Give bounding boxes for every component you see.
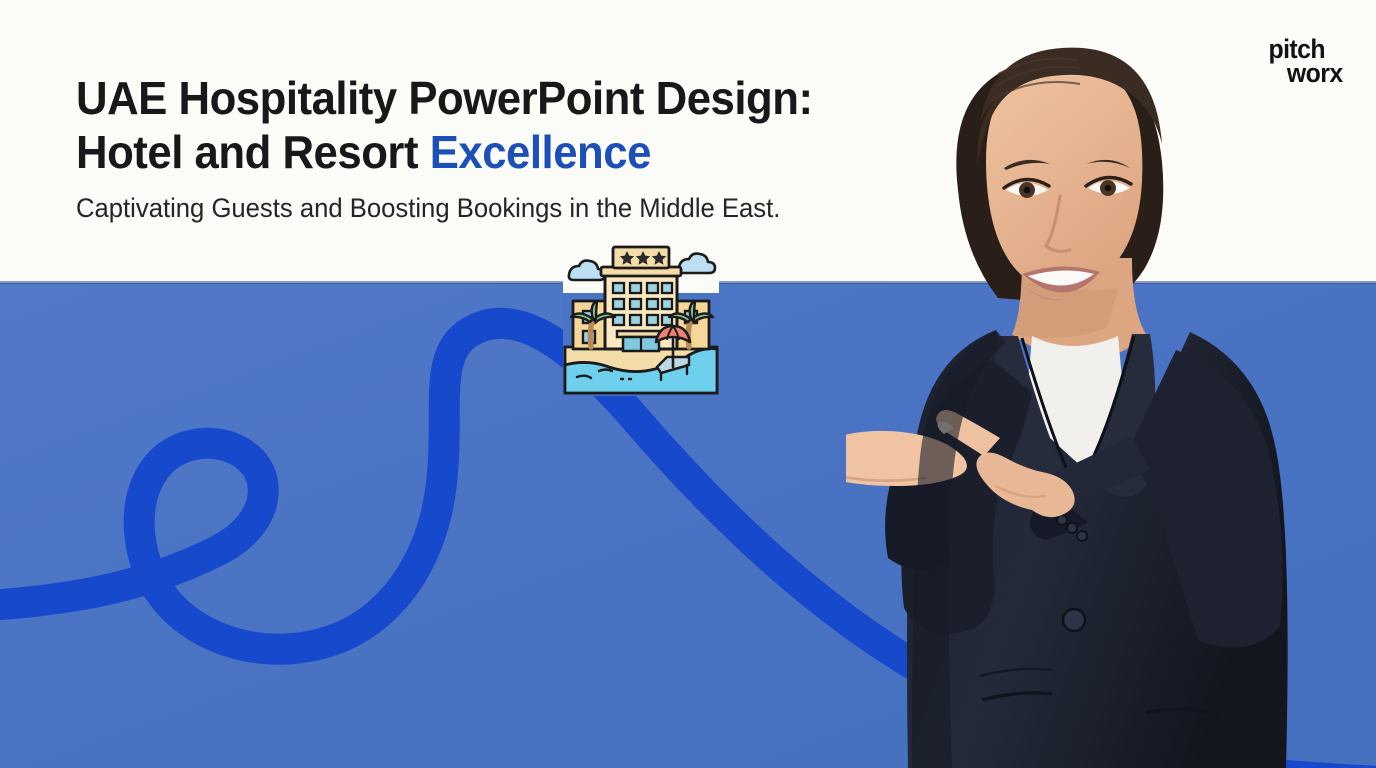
hotel-resort-icon [561,243,721,398]
page-title: UAE Hospitality PowerPoint Design: Hotel… [76,72,855,180]
headline-line-2-plain: Hotel and Resort [76,126,430,178]
promo-banner: UAE Hospitality PowerPoint Design: Hotel… [0,0,1376,768]
blazer-button [1063,609,1085,631]
page-subtitle: Captivating Guests and Boosting Bookings… [76,192,912,226]
headline-accent-word: Excellence [430,126,651,178]
presenter-photo [846,0,1316,768]
headline-line-1: UAE Hospitality PowerPoint Design: [76,72,813,124]
